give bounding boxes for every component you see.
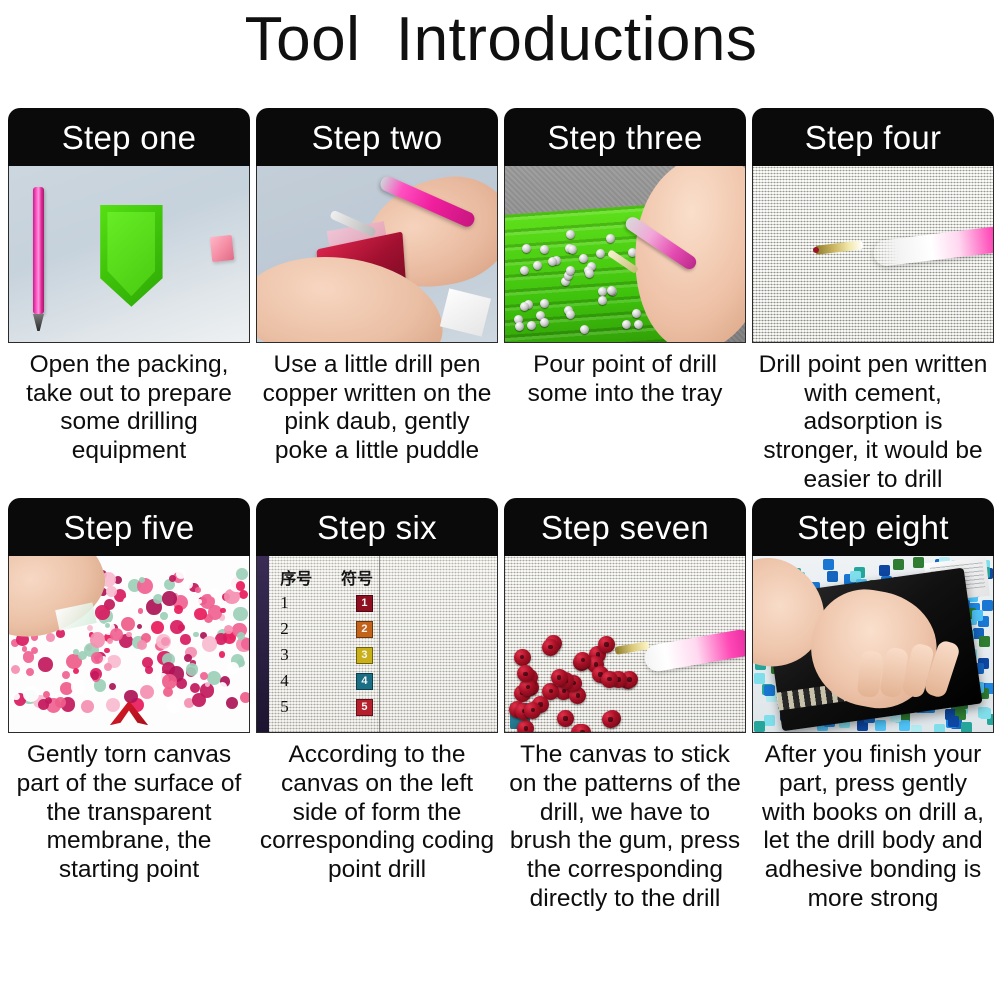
silver-drill-icon <box>598 287 607 296</box>
mosaic-dot <box>145 666 153 674</box>
mosaic-dot <box>162 591 177 606</box>
red-drill-icon <box>574 652 591 669</box>
mosaic-dot <box>194 608 207 621</box>
legend-row: 33 <box>276 642 377 668</box>
step-photo <box>8 556 250 733</box>
step-caption: Gently torn canvas part of the surface o… <box>8 741 250 884</box>
step-header-banner: Step six <box>256 498 498 556</box>
step-card-six: Step six 序号 符号 1122334455 According to t… <box>256 498 498 913</box>
red-drill-icon <box>551 669 568 686</box>
legend-symbol-chip: 2 <box>356 621 373 638</box>
mosaic-dot <box>11 665 20 674</box>
mosaic-dot <box>180 634 191 645</box>
mosaic-dot <box>12 693 19 700</box>
mosaic-dot <box>236 568 248 580</box>
step-photo <box>752 556 994 733</box>
step-photo <box>256 166 498 343</box>
finger-icon <box>856 650 882 698</box>
mosaic-dot <box>237 632 245 640</box>
step-header-label: Step one <box>62 121 197 154</box>
mosaic-dot <box>62 671 70 679</box>
step-card-seven: Step seven The canvas to stick on the pa… <box>504 498 746 913</box>
silver-drill-icon <box>607 286 616 295</box>
mosaic-tile <box>934 724 945 734</box>
mosaic-tile <box>948 716 959 727</box>
mosaic-dot <box>26 668 34 676</box>
mosaic-tile <box>961 722 972 733</box>
step-header-label: Step seven <box>541 511 709 544</box>
legend-divider <box>379 556 380 732</box>
step-card-one: Step one Open the packing, take out to p… <box>8 108 250 494</box>
mosaic-dot <box>192 693 206 707</box>
silver-drill-icon <box>568 245 577 254</box>
red-drill-icon <box>574 724 591 733</box>
red-drill-icon <box>557 710 574 727</box>
silver-drill-icon <box>520 302 529 311</box>
mosaic-dot <box>23 686 39 702</box>
page-title: Tool Introductions <box>0 4 1002 75</box>
step-photo <box>752 166 994 343</box>
mosaic-tile <box>911 725 922 733</box>
mosaic-dot <box>95 605 109 619</box>
steps-grid: Step one Open the packing, take out to p… <box>8 108 994 913</box>
mosaic-dot <box>226 697 238 709</box>
mosaic-dot <box>186 663 198 675</box>
paper-scrap-icon <box>440 288 491 336</box>
step-header-banner: Step two <box>256 108 498 166</box>
mosaic-dot <box>219 651 225 657</box>
mosaic-dot <box>176 569 186 579</box>
step-photo <box>8 166 250 343</box>
silver-drill-icon <box>632 309 641 318</box>
pen-copper-tip-icon <box>815 241 864 256</box>
step-card-five: Step five Gently torn canvas part of the… <box>8 498 250 913</box>
step-header-banner: Step four <box>752 108 994 166</box>
symbol-legend-table: 序号 符号 1122334455 <box>276 563 377 732</box>
legend-index: 4 <box>280 671 289 691</box>
step-header-banner: Step five <box>8 498 250 556</box>
silver-drill-icon <box>598 296 607 305</box>
step-caption: The canvas to stick on the patterns of t… <box>504 741 746 913</box>
mosaic-dot <box>236 581 246 591</box>
silver-drill-icon <box>566 230 575 239</box>
mosaic-dot <box>38 657 53 672</box>
mosaic-dot <box>227 662 239 674</box>
legend-header-row: 序号 符号 <box>276 563 377 590</box>
red-drill-icon <box>514 649 531 666</box>
mosaic-dot <box>91 671 99 679</box>
step-header-banner: Step one <box>8 108 250 166</box>
mosaic-dot <box>38 699 49 710</box>
silver-drill-icon <box>634 320 643 329</box>
mosaic-tile <box>972 610 983 621</box>
scene-red-drills-placed <box>505 556 745 732</box>
cement-dot-icon <box>813 247 819 253</box>
silver-drill-icon <box>527 321 536 330</box>
mosaic-dot <box>90 632 105 647</box>
legend-index: 2 <box>280 619 289 639</box>
mosaic-dot <box>200 672 208 680</box>
mosaic-tile <box>827 571 838 582</box>
silver-drill-icon <box>566 266 575 275</box>
mosaic-dot <box>109 683 116 690</box>
red-drill-icon <box>517 720 534 733</box>
mosaic-tile <box>879 565 890 576</box>
scene-peel-film-floral <box>9 556 249 732</box>
mosaic-dot <box>233 607 247 621</box>
mosaic-tile <box>893 559 904 570</box>
mosaic-dot <box>104 648 110 654</box>
step-header-label: Step six <box>317 511 437 544</box>
legend-symbol-chip: 1 <box>356 595 373 612</box>
step-caption: Open the packing, take out to prepare so… <box>8 351 250 466</box>
step-caption: According to the canvas on the left side… <box>256 741 498 884</box>
mosaic-dot <box>170 620 184 634</box>
step-photo: 序号 符号 1122334455 <box>256 556 498 733</box>
mosaic-dot <box>123 597 132 606</box>
mosaic-dot <box>190 683 200 693</box>
step-header-banner: Step seven <box>504 498 746 556</box>
legend-body: 1122334455 <box>276 590 377 720</box>
mosaic-dot <box>137 640 147 650</box>
mosaic-dot <box>73 668 79 674</box>
mosaic-dot <box>87 625 93 631</box>
legend-row: 44 <box>276 668 377 694</box>
mosaic-dot <box>218 682 227 691</box>
scene-drills-in-tray <box>505 166 745 342</box>
mosaic-dot <box>167 699 181 713</box>
mosaic-tile <box>764 685 775 696</box>
mosaic-dot <box>174 605 183 614</box>
scene-tools-on-table <box>9 166 249 342</box>
step-card-four: Step four Drill point pen written with c… <box>752 108 994 494</box>
silver-drill-icon <box>540 245 549 254</box>
mosaic-tile <box>979 636 990 647</box>
mosaic-dot <box>140 685 154 699</box>
legend-symbol-chip: 4 <box>356 673 373 690</box>
step-photo <box>504 166 746 343</box>
step-caption: Pour point of drill some into the tray <box>504 351 746 408</box>
step-card-two: Step two Use a little drill pen copper w… <box>256 108 498 494</box>
silver-drill-icon <box>520 266 529 275</box>
legend-symbol-chip: 3 <box>356 647 373 664</box>
mosaic-dot <box>104 663 113 672</box>
mosaic-dot <box>106 698 120 712</box>
pink-wax-icon <box>209 235 233 262</box>
mosaic-dot <box>81 700 94 713</box>
red-drill-icon <box>542 639 559 656</box>
silver-drill-icon <box>540 299 549 308</box>
mosaic-tile <box>982 600 993 611</box>
mosaic-dot <box>151 621 164 634</box>
legend-header-index: 序号 <box>280 565 312 589</box>
step-header-label: Step two <box>312 121 443 154</box>
mosaic-dot <box>183 580 193 590</box>
mosaic-dot <box>202 636 217 651</box>
legend-index: 3 <box>280 645 289 665</box>
mosaic-dot <box>139 577 145 583</box>
mosaic-tile <box>754 673 765 684</box>
mosaic-dot <box>220 608 226 614</box>
mosaic-tile <box>764 715 775 726</box>
red-drill-icon <box>602 711 619 728</box>
step-caption: Drill point pen written with cement, ads… <box>752 351 994 494</box>
step-photo <box>504 556 746 733</box>
legend-row: 55 <box>276 694 377 720</box>
silver-drill-icon <box>585 269 594 278</box>
pen-tip-icon <box>33 314 44 332</box>
step-header-label: Step three <box>547 121 702 154</box>
mosaic-tile <box>875 720 886 731</box>
tool-introductions-infographic: Tool Introductions Step one Open the pac… <box>0 0 1002 1002</box>
mosaic-dot <box>193 632 198 637</box>
mosaic-dot <box>23 651 34 662</box>
silver-drill-icon <box>606 234 615 243</box>
mosaic-dot <box>205 682 210 687</box>
legend-index: 5 <box>280 697 289 717</box>
legend-row: 11 <box>276 590 377 616</box>
mosaic-dot <box>210 588 221 599</box>
scene-press-with-book <box>753 556 993 732</box>
red-drill-icon <box>601 671 618 688</box>
mosaic-dot <box>56 629 64 637</box>
red-drill-icon <box>524 702 541 719</box>
legend-symbol-chip: 5 <box>356 699 373 716</box>
mosaic-dot <box>71 679 85 693</box>
step-card-three: Step three Pour point of drill some into… <box>504 108 746 494</box>
mosaic-dot <box>195 587 201 593</box>
mosaic-dot <box>46 633 55 642</box>
silver-drill-icon <box>522 244 531 253</box>
silver-drill-icon <box>515 322 524 331</box>
mosaic-dot <box>184 654 192 662</box>
mosaic-dot <box>224 625 233 634</box>
mosaic-tile <box>823 559 834 570</box>
silver-drill-icon <box>533 261 542 270</box>
mosaic-dot <box>78 651 87 660</box>
mosaic-dot <box>126 632 131 637</box>
mosaic-dot <box>110 628 123 641</box>
silver-drill-icon <box>596 249 605 258</box>
step-header-label: Step four <box>805 121 942 154</box>
silver-drill-icon <box>580 325 589 334</box>
scene-pen-tip-on-canvas <box>753 166 993 342</box>
legend-header-symbol: 符号 <box>341 565 373 589</box>
pink-pen-icon <box>643 628 746 674</box>
red-drill-icon <box>598 636 615 653</box>
legend-row: 22 <box>276 616 377 642</box>
scene-legend-table: 序号 符号 1122334455 <box>257 556 497 732</box>
scene-pen-into-wax <box>257 166 497 342</box>
step-card-eight: Step eight After you finish your part, p… <box>752 498 994 913</box>
step-caption: Use a little drill pen copper written on… <box>256 351 498 466</box>
silver-drill-icon <box>622 320 631 329</box>
canvas-edge <box>257 556 269 732</box>
silver-drill-icon <box>579 254 588 263</box>
step-caption: After you finish your part, press gently… <box>752 741 994 913</box>
mosaic-tile <box>754 721 765 732</box>
mosaic-dot <box>162 674 177 689</box>
step-header-banner: Step three <box>504 108 746 166</box>
mosaic-dot <box>121 617 135 631</box>
pink-pen-icon <box>33 187 44 314</box>
step-header-label: Step five <box>63 511 194 544</box>
pink-pen-icon <box>872 224 994 267</box>
mosaic-tile <box>899 720 910 731</box>
mosaic-dot <box>240 692 250 703</box>
mosaic-tile <box>978 707 989 718</box>
step-header-banner: Step eight <box>752 498 994 556</box>
mosaic-dot <box>160 612 167 619</box>
mosaic-dot <box>138 608 143 613</box>
legend-index: 1 <box>280 593 289 613</box>
silver-drill-icon <box>540 318 549 327</box>
mosaic-tile <box>913 557 924 568</box>
step-header-label: Step eight <box>797 511 949 544</box>
silver-drill-icon <box>566 310 575 319</box>
mosaic-dot <box>137 624 142 629</box>
